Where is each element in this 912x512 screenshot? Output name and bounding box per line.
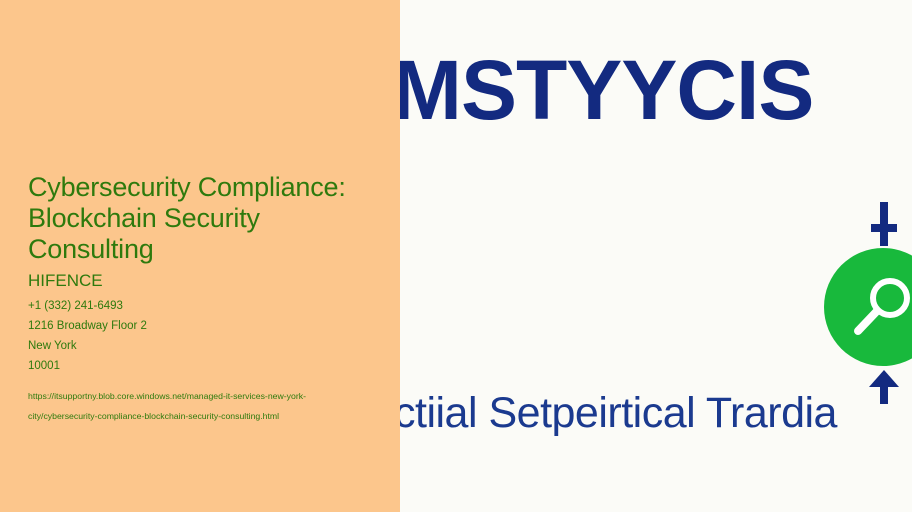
page-root: Cybersecurity Compliance: Blockchain Sec…	[0, 0, 912, 512]
magnifier-icon	[850, 274, 912, 340]
illustration-panel: MSTYYCIS	[400, 0, 912, 512]
brand-name: HIFENCE	[28, 270, 384, 291]
circle-badge-magnifier	[824, 248, 912, 366]
phone-number: +1 (332) 241-6493	[28, 296, 384, 316]
illustration-caption: ctiial Setpeirtical Trardia	[400, 385, 912, 441]
source-url-link[interactable]: https://itsupportny.blob.core.windows.ne…	[28, 386, 363, 426]
address-street: 1216 Broadway Floor 2	[28, 316, 384, 336]
address-zip: 10001	[28, 356, 384, 376]
info-panel-content: Cybersecurity Compliance: Blockchain Sec…	[28, 172, 384, 426]
address-city: New York	[28, 336, 384, 356]
arrow-down-icon	[871, 202, 897, 246]
icon-node-magnifier	[824, 248, 912, 368]
page-title: Cybersecurity Compliance: Blockchain Sec…	[28, 172, 380, 265]
info-panel: Cybersecurity Compliance: Blockchain Sec…	[0, 0, 400, 512]
